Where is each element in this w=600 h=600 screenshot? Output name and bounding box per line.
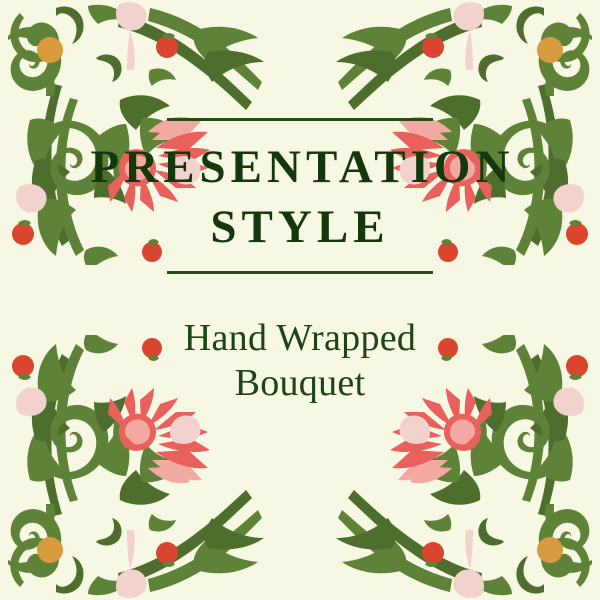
title-line-2: STYLE (210, 201, 389, 253)
berry-red-icon (156, 542, 178, 567)
berry-red-icon (156, 33, 178, 58)
bud-gold-icon (537, 504, 563, 563)
bud-pink-icon (453, 530, 484, 598)
bud-gold-icon (537, 37, 563, 96)
page-subtitle: Hand Wrapped Bouquet (184, 316, 416, 406)
bud-pink-icon (453, 2, 484, 70)
presentation-style-poster: PRESENTATION STYLE Hand Wrapped Bouquet (0, 0, 600, 600)
subtitle-line-1: Hand Wrapped (184, 317, 416, 359)
divider-top (167, 118, 433, 121)
bud-pink-icon-3 (170, 415, 201, 443)
berry-red-icon (422, 33, 444, 58)
divider-bottom (167, 271, 433, 274)
bud-gold-icon (37, 37, 63, 96)
text-block: PRESENTATION STYLE Hand Wrapped Bouquet (0, 118, 600, 406)
page-title: PRESENTATION STYLE (86, 137, 515, 257)
berry-red-icon (422, 542, 444, 567)
bud-pink-icon-3 (399, 415, 430, 443)
title-line-1: PRESENTATION (91, 141, 515, 193)
bud-pink-icon (116, 530, 147, 598)
bud-gold-icon (37, 504, 63, 563)
bud-pink-icon (116, 2, 147, 70)
subtitle-line-2: Bouquet (235, 362, 366, 404)
